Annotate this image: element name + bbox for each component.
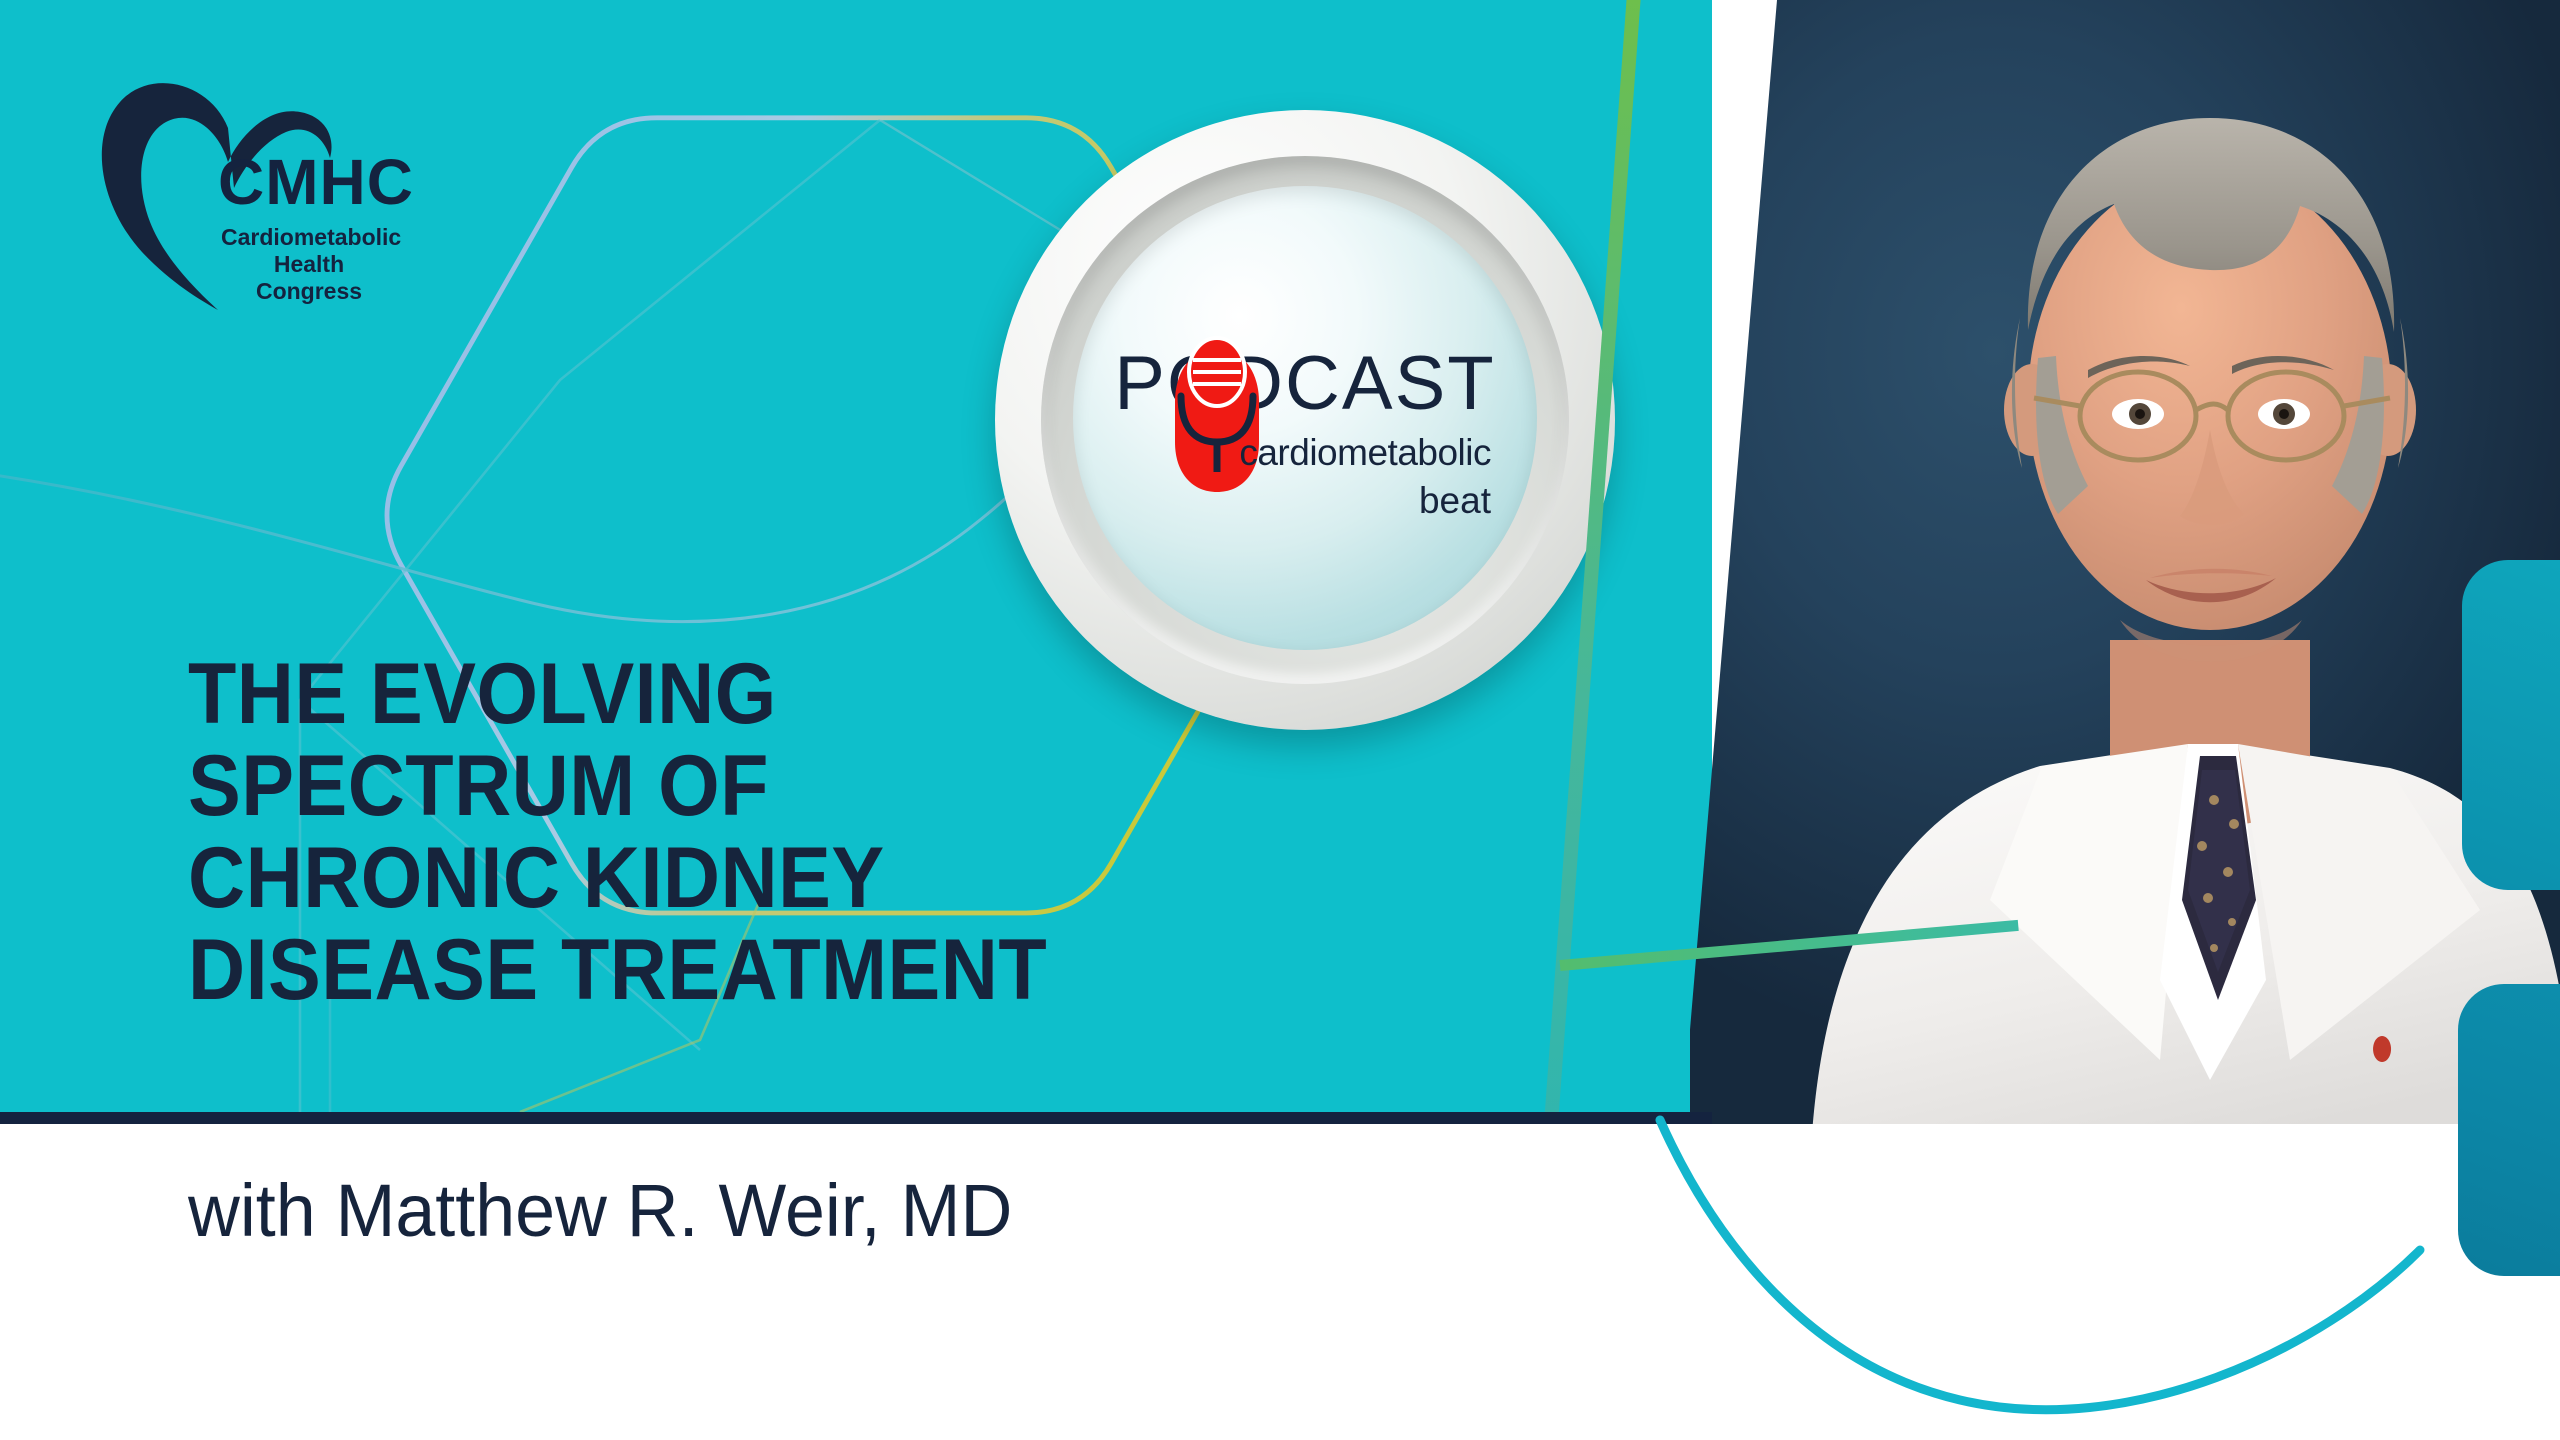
podcast-promo-graphic: CMHC Cardiometabolic Health Congress POD… <box>0 0 2560 1440</box>
podcast-badge: PODCAST cardiometabolic beat <box>995 110 1615 730</box>
swoosh-curve <box>0 1100 2560 1440</box>
speaker-portrait <box>1690 0 2560 1170</box>
logo-subtitle-line-1: Cardiometabolic <box>221 224 397 251</box>
logo-subtitle-line-2: Health <box>221 251 397 278</box>
badge-text-group: PODCAST cardiometabolic beat <box>1073 186 1537 650</box>
headline-line-4: DISEASE TREATMENT <box>188 924 1310 1016</box>
badge-subtitle-line-2: beat <box>1161 482 1491 519</box>
presenter-name: with Matthew R. Weir, MD <box>188 1168 1012 1253</box>
headline: THE EVOLVING SPECTRUM OF CHRONIC KIDNEY … <box>188 648 1310 1016</box>
logo-subtitle: Cardiometabolic Health Congress <box>221 224 397 305</box>
headline-line-3: CHRONIC KIDNEY <box>188 832 1310 924</box>
headline-line-2: SPECTRUM OF <box>188 740 1310 832</box>
logo-acronym: CMHC <box>218 150 414 214</box>
microphone-icon <box>1161 324 1273 500</box>
teal-tab-upper <box>2462 560 2560 890</box>
speaker-photo-panel <box>1690 0 2560 1170</box>
cmhc-logo: CMHC Cardiometabolic Health Congress <box>78 62 398 312</box>
logo-subtitle-line-3: Congress <box>221 278 397 305</box>
headline-line-1: THE EVOLVING <box>188 648 1310 740</box>
badge-subtitle-line-1: cardiometabolic <box>1161 434 1491 471</box>
